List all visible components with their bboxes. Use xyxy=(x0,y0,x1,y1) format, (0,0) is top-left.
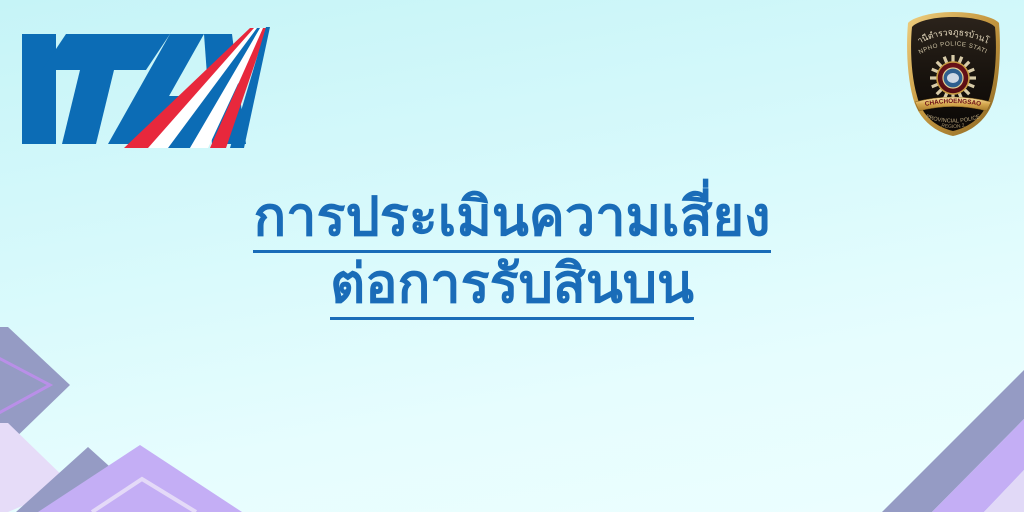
lavender-band-shape xyxy=(984,470,1024,512)
slate-chevron-shape xyxy=(0,327,70,445)
slate-triangle-shape xyxy=(16,447,160,512)
letter-i-shape xyxy=(22,34,56,144)
letter-t-stem-shape xyxy=(62,70,114,144)
slate-band-shape xyxy=(882,370,1024,512)
decoration-bottom-right xyxy=(774,367,1024,512)
decoration-bottom-left xyxy=(0,327,300,512)
badge-inner-emblem-shape xyxy=(947,73,959,83)
title-line-2: ต่อการรับสินบน xyxy=(330,253,694,320)
slide-title-block: การประเมินความเสี่ยง ต่อการรับสินบน xyxy=(0,186,1024,320)
triangle-accent-line xyxy=(92,479,196,512)
slide-canvas: สถานีตำรวจภูธรบ้านโพธิ์ BANPHO POLICE ST… xyxy=(0,0,1024,512)
purple-triangle-shape xyxy=(38,445,242,512)
lavender-block-shape xyxy=(0,423,72,512)
ita-logo xyxy=(18,26,286,151)
letter-t-bar-shape xyxy=(42,34,170,70)
title-line-2-row: ต่อการรับสินบน xyxy=(0,253,1024,320)
purple-band-shape xyxy=(932,419,1024,512)
badge-starburst-shape xyxy=(930,55,976,101)
police-badge-emblem: สถานีตำรวจภูธรบ้านโพธิ์ BANPHO POLICE ST… xyxy=(901,10,1006,138)
chevron-accent-line xyxy=(0,335,50,437)
title-line-1-row: การประเมินความเสี่ยง xyxy=(0,186,1024,253)
title-line-1: การประเมินความเสี่ยง xyxy=(253,186,770,253)
